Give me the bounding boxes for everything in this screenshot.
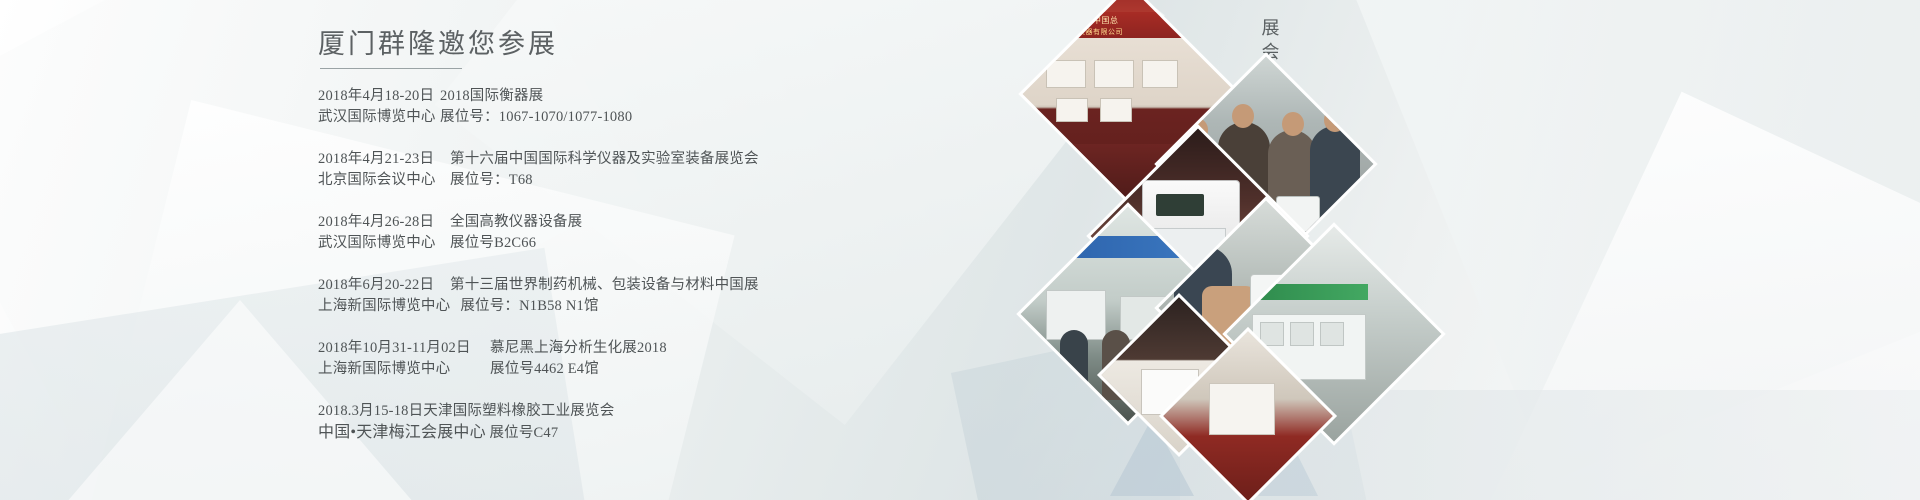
event-row-venue: 中国•天津梅江会展中心 展位号C47 [318,422,1018,444]
event-venue: 上海新国际博览中心 [318,296,450,317]
event-venue: 上海新国际博览中心 [318,359,480,380]
photo-banner-subtext: 厦门群隆仪器有限公司 [1048,27,1123,37]
event-row-date: 2018.3月15-18日天津国际塑料橡胶工业展览会 [318,401,1018,422]
event-venue: 中国•天津梅江会展中心 [318,424,486,441]
page-title: 厦门群隆邀您参展 [318,22,1018,68]
event-row-date: 2018年6月20-22日 第十三届世界制药机械、包装设备与材料中国展 [318,275,1018,296]
event-item: 2018年10月31-11月02日 慕尼黑上海分析生化展2018 上海新国际博览… [318,338,1018,380]
event-row-date: 2018年10月31-11月02日 慕尼黑上海分析生化展2018 [318,338,1018,359]
event-item: 2018.3月15-18日天津国际塑料橡胶工业展览会 中国•天津梅江会展中心 展… [318,401,1018,444]
event-row-venue: 武汉国际博览中心 展位号：1067-1070/1077-1080 [318,107,1018,128]
event-date: 2018年4月18-20日 [318,86,440,107]
event-item: 2018年6月20-22日 第十三届世界制药机械、包装设备与材料中国展 上海新国… [318,275,1018,317]
event-venue: 北京国际会议中心 [318,170,440,191]
exhibition-banner: 厦门群隆邀您参展 2018年4月18-20日 2018国际衡器展 武汉国际博览中… [0,0,1920,500]
event-date: 2018年4月21-23日 [318,149,440,170]
event-item: 2018年4月18-20日 2018国际衡器展 武汉国际博览中心 展位号：106… [318,86,1018,128]
event-item: 2018年4月26-28日 全国高教仪器设备展 武汉国际博览中心 展位号B2C6… [318,212,1018,254]
event-row-date: 2018年4月26-28日 全国高教仪器设备展 [318,212,1018,233]
event-booth: 展位号4462 E4馆 [480,359,599,380]
event-row-venue: 武汉国际博览中心 展位号B2C66 [318,233,1018,254]
event-booth: 展位号B2C66 [440,233,536,254]
event-name: 慕尼黑上海分析生化展2018 [480,338,667,359]
background-facet [1487,92,1920,500]
event-row-venue: 北京国际会议中心 展位号：T68 [318,170,1018,191]
event-date: 2018.3月15-18日天津国际塑料橡胶工业展览会 [318,403,614,419]
event-item: 2018年4月21-23日 第十六届中国国际科学仪器及实验室装备展览会 北京国际… [318,149,1018,191]
event-date: 2018年10月31-11月02日 [318,338,480,359]
title-underline [320,68,462,69]
event-name: 2018国际衡器展 [440,86,543,107]
event-booth: 展位号：N1B58 N1馆 [450,296,598,317]
event-name: 全国高教仪器设备展 [440,212,582,233]
event-name: 第十三届世界制药机械、包装设备与材料中国展 [440,275,759,296]
event-list-panel: 厦门群隆邀您参展 2018年4月18-20日 2018国际衡器展 武汉国际博览中… [318,22,1018,444]
event-row-date: 2018年4月21-23日 第十六届中国国际科学仪器及实验室装备展览会 [318,149,1018,170]
event-date: 2018年6月20-22日 [318,275,440,296]
event-row-venue: 上海新国际博览中心 展位号4462 E4馆 [318,359,1018,380]
photo-banner-text: 密度计&水分仪中国总 [1036,15,1118,26]
event-booth: 展位号：T68 [440,170,533,191]
photo-collage: 密度计&水分仪中国总 厦门群隆仪器有限公司 [1040,0,1460,500]
event-date: 2018年4月26-28日 [318,212,440,233]
event-name: 第十六届中国国际科学仪器及实验室装备展览会 [440,149,759,170]
event-row-venue: 上海新国际博览中心 展位号：N1B58 N1馆 [318,296,1018,317]
event-venue: 武汉国际博览中心 [318,233,440,254]
event-row-date: 2018年4月18-20日 2018国际衡器展 [318,86,1018,107]
event-booth: 展位号：1067-1070/1077-1080 [440,107,632,128]
event-venue: 武汉国际博览中心 [318,107,440,128]
event-booth: 展位号C47 [489,425,558,441]
